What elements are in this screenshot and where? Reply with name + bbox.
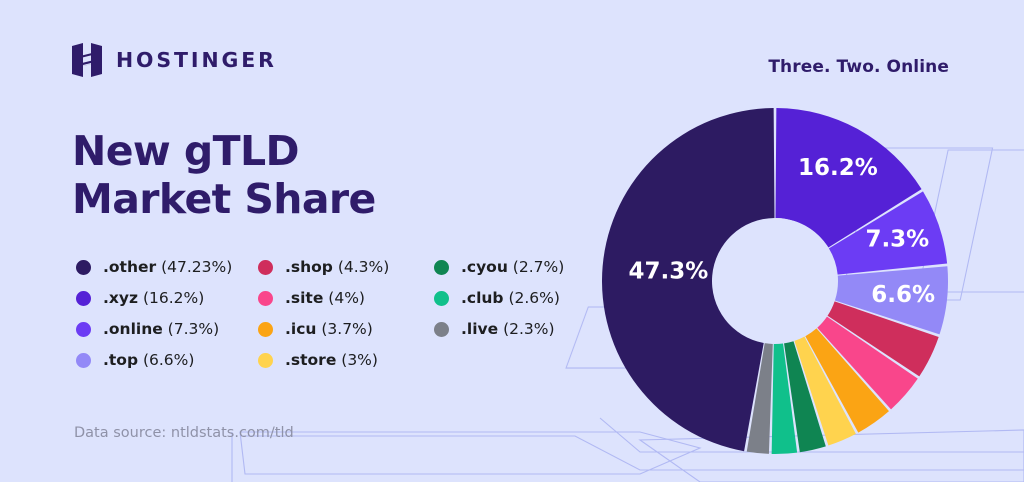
legend-item-icu[interactable]: .icu (3.7%) <box>258 314 434 345</box>
legend-swatch-site-icon <box>258 291 273 306</box>
legend-item-online[interactable]: .online (7.3%) <box>76 314 258 345</box>
brand-name: HOSTINGER <box>116 50 277 71</box>
donut-chart-svg: 16.2%7.3%6.6%47.3% <box>602 108 948 454</box>
legend-column-3: .cyou (2.7%).club (2.6%).live (2.3%) <box>434 252 594 376</box>
legend-label: .live (2.3%) <box>461 322 555 338</box>
donut-label-other: 47.3% <box>628 258 708 284</box>
legend-swatch-store-icon <box>258 353 273 368</box>
legend-label: .store (3%) <box>285 353 378 369</box>
legend-label: .xyz (16.2%) <box>103 291 204 307</box>
legend-label: .icu (3.7%) <box>285 322 373 338</box>
donut-label-top: 6.6% <box>871 282 935 308</box>
legend-label: .cyou (2.7%) <box>461 260 564 276</box>
tagline: Three. Two. Online <box>768 57 949 77</box>
legend-swatch-shop-icon <box>258 260 273 275</box>
legend-swatch-xyz-icon <box>76 291 91 306</box>
donut-label-xyz: 16.2% <box>798 155 878 181</box>
page-title: New gTLD Market Share <box>72 128 376 224</box>
legend-label: .other (47.23%) <box>103 260 232 276</box>
legend-label: .club (2.6%) <box>461 291 560 307</box>
legend-item-shop[interactable]: .shop (4.3%) <box>258 252 434 283</box>
page-title-line-2: Market Share <box>72 176 376 224</box>
page-title-line-1: New gTLD <box>72 128 376 176</box>
legend-item-site[interactable]: .site (4%) <box>258 283 434 314</box>
legend-item-top[interactable]: .top (6.6%) <box>76 345 258 376</box>
legend-column-2: .shop (4.3%).site (4%).icu (3.7%).store … <box>258 252 434 376</box>
legend-swatch-icu-icon <box>258 322 273 337</box>
donut-hole <box>712 218 838 344</box>
legend-item-xyz[interactable]: .xyz (16.2%) <box>76 283 258 314</box>
hostinger-h-logo-icon <box>72 43 102 77</box>
legend-item-store[interactable]: .store (3%) <box>258 345 434 376</box>
donut-chart: 16.2%7.3%6.6%47.3% <box>602 108 948 454</box>
legend-label: .top (6.6%) <box>103 353 194 369</box>
legend-swatch-club-icon <box>434 291 449 306</box>
legend-swatch-other-icon <box>76 260 91 275</box>
brand-logo: HOSTINGER <box>72 43 277 77</box>
legend-swatch-top-icon <box>76 353 91 368</box>
legend-label: .site (4%) <box>285 291 365 307</box>
donut-label-online: 7.3% <box>865 227 929 253</box>
legend-swatch-cyou-icon <box>434 260 449 275</box>
legend-item-live[interactable]: .live (2.3%) <box>434 314 594 345</box>
infographic-canvas: HOSTINGER Three. Two. Online New gTLD Ma… <box>0 0 1024 482</box>
legend-swatch-online-icon <box>76 322 91 337</box>
legend-item-other[interactable]: .other (47.23%) <box>76 252 258 283</box>
legend-label: .shop (4.3%) <box>285 260 389 276</box>
legend-column-1: .other (47.23%).xyz (16.2%).online (7.3%… <box>76 252 258 376</box>
legend-item-club[interactable]: .club (2.6%) <box>434 283 594 314</box>
legend-label: .online (7.3%) <box>103 322 219 338</box>
legend-swatch-live-icon <box>434 322 449 337</box>
chart-legend: .other (47.23%).xyz (16.2%).online (7.3%… <box>76 252 594 376</box>
legend-item-cyou[interactable]: .cyou (2.7%) <box>434 252 594 283</box>
data-source-note: Data source: ntldstats.com/tld <box>74 425 294 441</box>
